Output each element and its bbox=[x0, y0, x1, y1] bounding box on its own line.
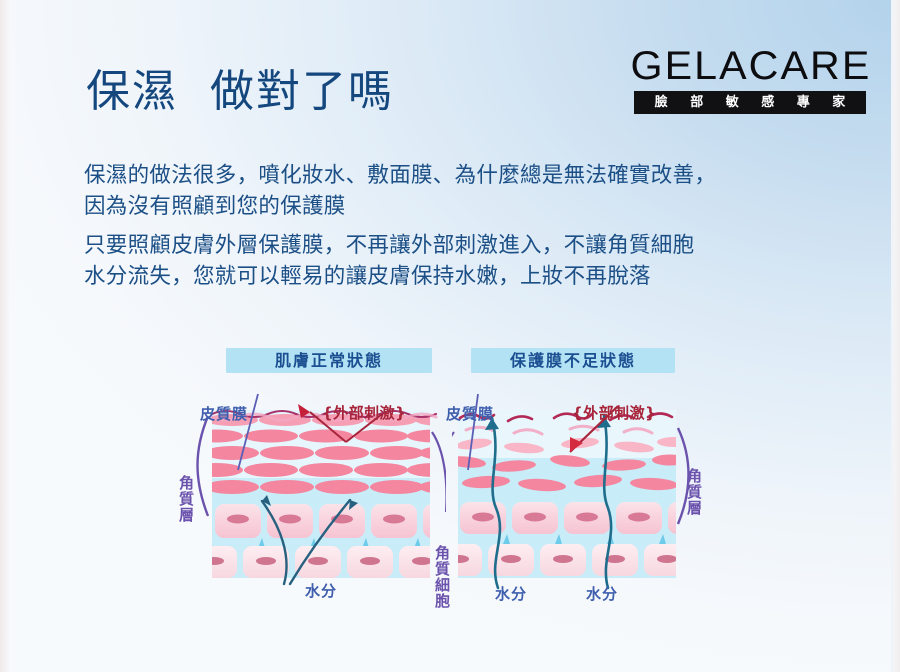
body-line-4: 水分流失，您就可以輕易的讓皮膚保持水嫩，上妝不再脫落 bbox=[84, 261, 874, 292]
panel-title-normal: 肌膚正常狀態 bbox=[226, 348, 432, 373]
label-sebum-film-right: 皮質膜 bbox=[446, 403, 494, 424]
body-line-2: 因為沒有照顧到您的保護膜 bbox=[84, 191, 874, 222]
label-keratinocyte-center: 角質細胞 bbox=[432, 545, 451, 609]
brand-logo: GELACARE 臉 部 敏 感 專 家 bbox=[634, 44, 866, 114]
label-moisture-right-1: 水分 bbox=[495, 583, 527, 604]
keratinocyte-row-1 bbox=[215, 504, 446, 538]
body-copy: 保濕的做法很多，噴化妝水、敷面膜、為什麼總是無法確實改善， 因為沒有照顧到您的保… bbox=[84, 160, 874, 292]
label-stratum-corneum-left: 角質層 bbox=[176, 475, 195, 523]
brand-tagline: 臉 部 敏 感 專 家 bbox=[634, 91, 866, 114]
label-stratum-corneum-right: 角質層 bbox=[684, 468, 703, 516]
label-external-stimulus-right: {外部刺激} bbox=[572, 402, 656, 423]
label-moisture-right-2: 水分 bbox=[586, 583, 618, 604]
stimulus-arrow-left bbox=[286, 398, 406, 448]
keratinocyte-row-2 bbox=[196, 546, 445, 578]
corneum-pointer-left-right bbox=[452, 432, 454, 480]
label-moisture-left: 水分 bbox=[305, 580, 337, 601]
panel-title-damaged: 保護膜不足狀態 bbox=[471, 348, 675, 373]
page-title: 保濕 做對了嗎 bbox=[86, 64, 394, 120]
body-line-3: 只要照顧皮膚外層保護膜，不再讓外部刺激進入，不讓角質細胞 bbox=[84, 230, 874, 261]
skin-diagram: 肌膚正常狀態 保護膜不足狀態 bbox=[0, 340, 900, 672]
corneum-brace-left bbox=[198, 416, 209, 516]
slide-canvas: GELACARE 臉 部 敏 感 專 家 保濕 做對了嗎 保濕的做法很多，噴化妝… bbox=[0, 0, 900, 672]
corneum-pointer-right bbox=[432, 432, 446, 512]
brand-wordmark: GELACARE bbox=[631, 44, 870, 88]
label-sebum-film-left: 皮質膜 bbox=[200, 403, 248, 424]
body-line-1: 保濕的做法很多，噴化妝水、敷面膜、為什麼總是無法確實改善， bbox=[84, 160, 874, 191]
